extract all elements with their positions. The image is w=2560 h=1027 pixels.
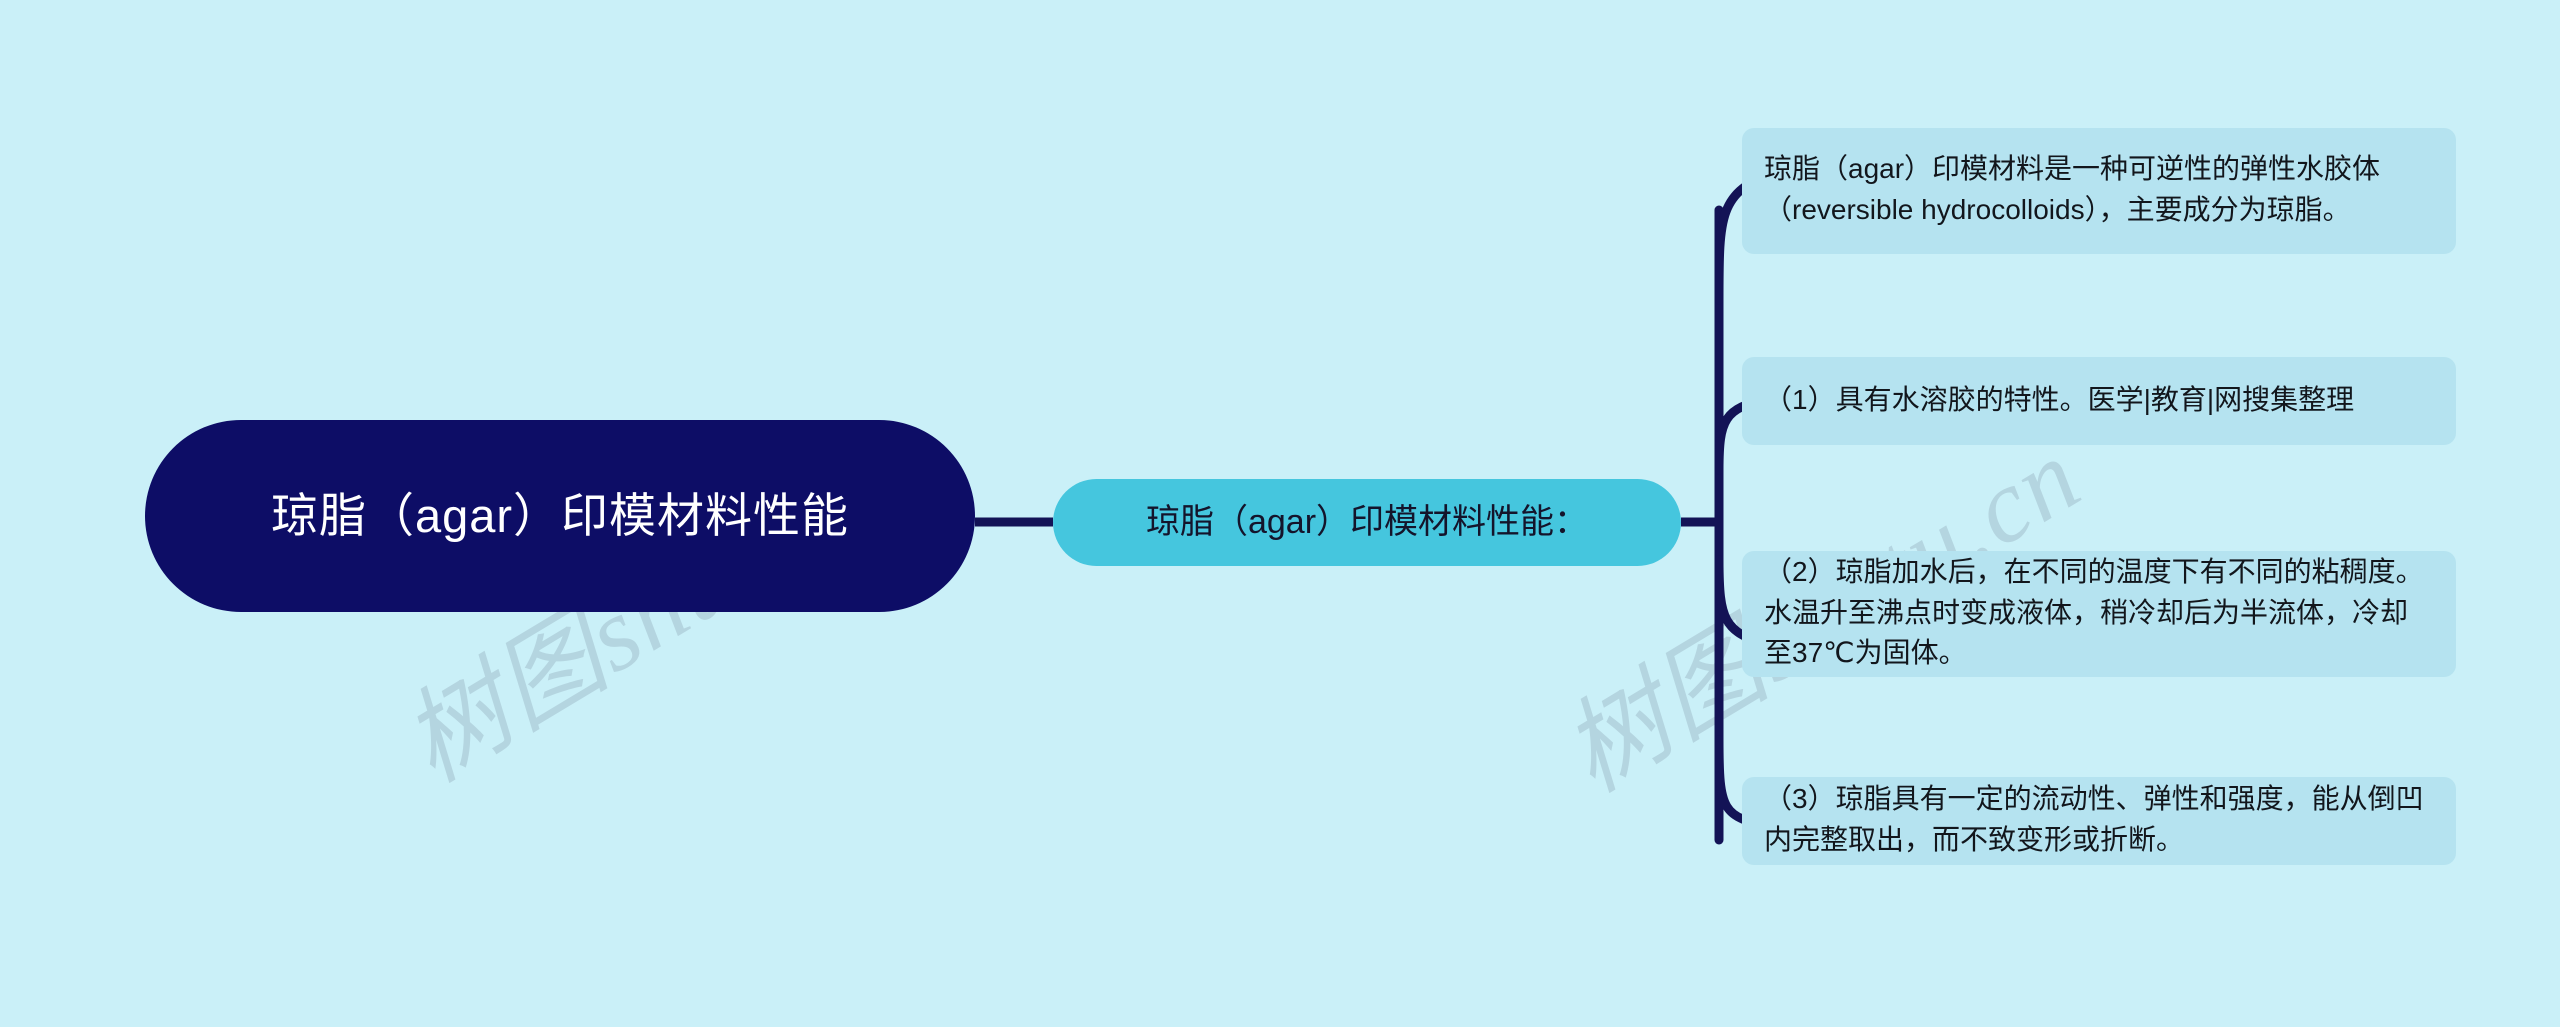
middle-node[interactable]: 琼脂（agar）印模材料性能：: [1053, 479, 1681, 566]
root-node[interactable]: 琼脂（agar）印模材料性能: [145, 420, 975, 612]
leaf-node-0-label: 琼脂（agar）印模材料是一种可逆性的弹性水胶体（reversible hydr…: [1764, 149, 2434, 230]
middle-node-label: 琼脂（agar）印模材料性能：: [1146, 502, 1588, 543]
leaf-node-2-label: （2）琼脂加水后，在不同的温度下有不同的粘稠度。水温升至沸点时变成液体，稍冷却后…: [1764, 552, 2434, 674]
leaf-node-1-label: （1）具有水溶胶的特性。医学|教育|网搜集整理: [1764, 380, 2354, 421]
leaf-node-3-label: （3）琼脂具有一定的流动性、弹性和强度，能从倒凹内完整取出，而不致变形或折断。: [1764, 779, 2434, 860]
leaf-node-3[interactable]: （3）琼脂具有一定的流动性、弹性和强度，能从倒凹内完整取出，而不致变形或折断。: [1742, 777, 2456, 865]
root-node-label: 琼脂（agar）印模材料性能: [271, 486, 849, 546]
leaf-node-2[interactable]: （2）琼脂加水后，在不同的温度下有不同的粘稠度。水温升至沸点时变成液体，稍冷却后…: [1742, 551, 2456, 677]
leaf-node-1[interactable]: （1）具有水溶胶的特性。医学|教育|网搜集整理: [1742, 357, 2456, 445]
leaf-node-0[interactable]: 琼脂（agar）印模材料是一种可逆性的弹性水胶体（reversible hydr…: [1742, 128, 2456, 254]
mindmap-canvas: 树图shutu.cn 树图shutu.cn 琼脂（agar）印模材料性能 琼脂（…: [0, 0, 2560, 1027]
